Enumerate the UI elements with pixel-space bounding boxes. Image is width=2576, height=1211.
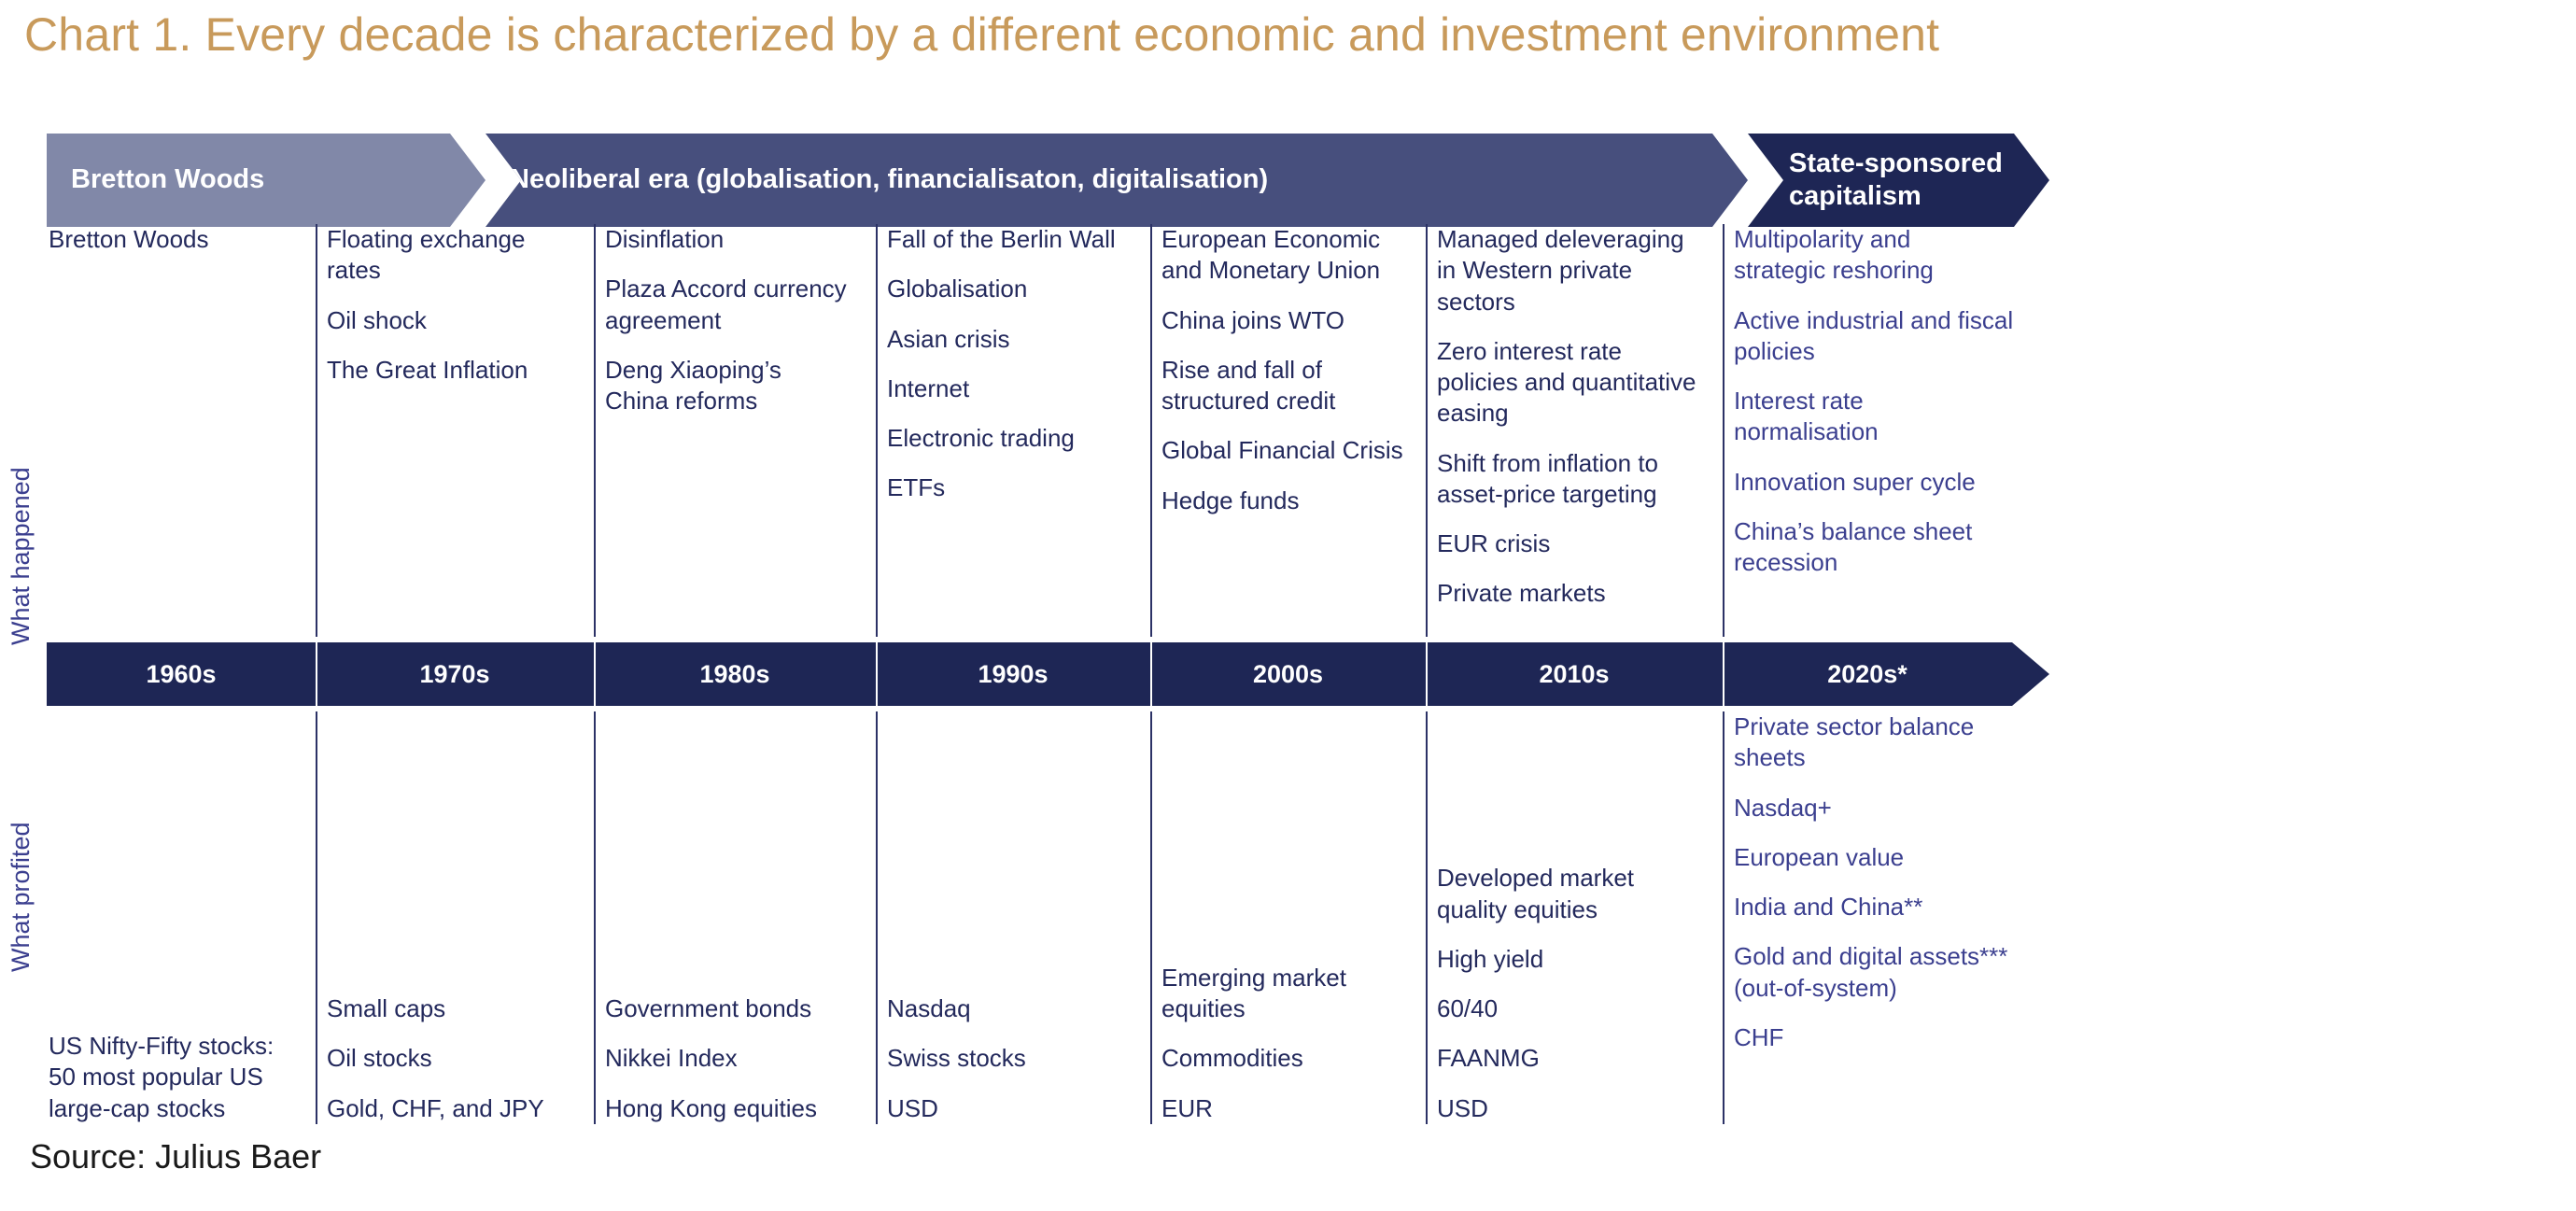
row-label-what-profited: What profited [7,822,35,972]
cell-entry: Oil stocks [327,1043,584,1074]
cell-entry: Private sector balancesheets [1734,711,2051,774]
cell-entry: Oil shock [327,305,584,336]
cell-happened-1970s: Floating exchangeratesOil shockThe Great… [327,224,584,386]
cell-entry: Government bonds [605,993,872,1024]
era-band-neoliberal: Neoliberal era (globalisation, financial… [486,134,1748,227]
cell-entry: Plaza Accord currencyagreement [605,274,872,336]
cell-entry: Internet [887,373,1148,404]
cell-entry: European value [1734,842,2051,873]
page-title: Chart 1. Every decade is characterized b… [24,7,2545,62]
era-label: Bretton Woods [47,163,281,196]
era-ribbon: Bretton Woods Neoliberal era (globalisat… [47,134,2049,227]
cell-profited-2010s: Developed marketquality equitiesHigh yie… [1437,711,1717,1124]
column-separator [1150,224,1152,637]
cell-entry: CHF [1734,1022,2051,1053]
cell-entry: India and China** [1734,892,2051,922]
column-separator [1426,711,1428,1124]
decade-axis: 1960s 1970s 1980s 1990s 2000s 2010s 2020… [47,642,2049,706]
cell-entry: China’s balance sheetrecession [1734,516,2042,579]
column-separator [1426,224,1428,637]
cell-entry: Rise and fall ofstructured credit [1161,355,1425,417]
column-separator [316,224,317,637]
cell-entry: Disinflation [605,224,872,255]
column-separator [316,711,317,1124]
cell-entry: USD [887,1093,1148,1124]
decade-cell-2010s: 2010s [1426,642,1723,706]
cell-entry: Asian crisis [887,324,1148,355]
cell-happened-2020s: Multipolarity andstrategic reshoringActi… [1734,224,2042,578]
cell-profited-2000s: Emerging marketequitiesCommoditiesEUR [1161,711,1425,1124]
cell-entry: Swiss stocks [887,1043,1148,1074]
chart-canvas: Chart 1. Every decade is characterized b… [0,0,2576,1211]
decade-cell-1980s: 1980s [594,642,876,706]
decade-divider [594,642,596,706]
cell-entry: Global Financial Crisis [1161,435,1425,466]
cell-entry: Managed deleveragingin Western privatese… [1437,224,1736,317]
cell-entry: Innovation super cycle [1734,467,2042,498]
cell-entry: Private markets [1437,578,1736,609]
decade-divider [876,642,878,706]
cell-entry: The Great Inflation [327,355,584,386]
cell-entry: Interest ratenormalisation [1734,386,2042,448]
cell-entry: Gold and digital assets***(out-of-system… [1734,941,2051,1004]
decade-divider [1150,642,1152,706]
cell-entry: High yield [1437,944,1717,975]
cell-happened-1990s: Fall of the Berlin WallGlobalisationAsia… [887,224,1148,504]
cell-entry: EUR crisis [1437,528,1736,559]
decade-cell-1970s: 1970s [316,642,594,706]
cell-profited-2020s: Private sector balancesheetsNasdaq+Europ… [1734,711,2051,1053]
decade-divider [316,642,317,706]
decade-cell-2000s: 2000s [1150,642,1426,706]
cell-profited-1960s: US Nifty-Fifty stocks:50 most popular US… [49,711,306,1124]
cell-entry: Nasdaq [887,993,1148,1024]
column-separator [876,711,878,1124]
cell-happened-1960s: Bretton Woods [49,224,306,255]
cell-entry: Shift from inflation toasset-price targe… [1437,448,1736,511]
column-separator [1150,711,1152,1124]
cell-entry: Nikkei Index [605,1043,872,1074]
decade-divider [1723,642,1724,706]
era-label: State-sponsored capitalism [1748,148,2020,214]
cell-entry: Hedge funds [1161,486,1425,516]
cell-profited-1970s: Small capsOil stocksGold, CHF, and JPY [327,711,584,1124]
cell-entry: Emerging marketequities [1161,963,1425,1025]
cell-entry: Multipolarity andstrategic reshoring [1734,224,2042,287]
cell-happened-1980s: DisinflationPlaza Accord currencyagreeme… [605,224,872,416]
cell-entry: US Nifty-Fifty stocks:50 most popular US… [49,1031,306,1124]
cell-entry: Nasdaq+ [1734,793,2051,824]
column-separator [594,711,596,1124]
cell-entry: Bretton Woods [49,224,306,255]
era-band-state-sponsored-capitalism: State-sponsored capitalism [1748,134,2049,227]
cell-entry: Electronic trading [887,423,1148,454]
cell-entry: Developed marketquality equities [1437,863,1717,925]
era-band-bretton-woods: Bretton Woods [47,134,486,227]
cell-entry: Globalisation [887,274,1148,304]
cell-entry: China joins WTO [1161,305,1425,336]
cell-profited-1990s: NasdaqSwiss stocksUSD [887,711,1148,1124]
cell-entry: Fall of the Berlin Wall [887,224,1148,255]
cell-happened-2010s: Managed deleveragingin Western privatese… [1437,224,1736,610]
row-label-what-happened: What happened [7,467,35,645]
era-label: Neoliberal era (globalisation, financial… [486,163,1285,196]
cell-entry: Active industrial and fiscalpolicies [1734,305,2042,368]
cell-entry: 60/40 [1437,993,1717,1024]
decade-cell-2020s: 2020s* [1723,642,2012,706]
decade-divider [1426,642,1428,706]
cell-entry: Deng Xiaoping’sChina reforms [605,355,872,417]
cell-entry: Commodities [1161,1043,1425,1074]
cell-entry: Zero interest ratepolicies and quantitat… [1437,336,1736,429]
cell-entry: ETFs [887,472,1148,503]
cell-entry: EUR [1161,1093,1425,1124]
column-separator [876,224,878,637]
cell-profited-1980s: Government bondsNikkei IndexHong Kong eq… [605,711,872,1124]
cell-entry: Small caps [327,993,584,1024]
cell-entry: Hong Kong equities [605,1093,872,1124]
cell-entry: Floating exchangerates [327,224,584,287]
column-separator [594,224,596,637]
decade-cell-1990s: 1990s [876,642,1150,706]
decade-cell-1960s: 1960s [47,642,316,706]
cell-entry: USD [1437,1093,1717,1124]
cell-entry: FAANMG [1437,1043,1717,1074]
cell-entry: Gold, CHF, and JPY [327,1093,584,1124]
cell-happened-2000s: European Economicand Monetary UnionChina… [1161,224,1425,516]
column-separator [1723,711,1724,1124]
cell-entry: European Economicand Monetary Union [1161,224,1425,287]
source-note: Source: Julius Baer [30,1137,321,1176]
